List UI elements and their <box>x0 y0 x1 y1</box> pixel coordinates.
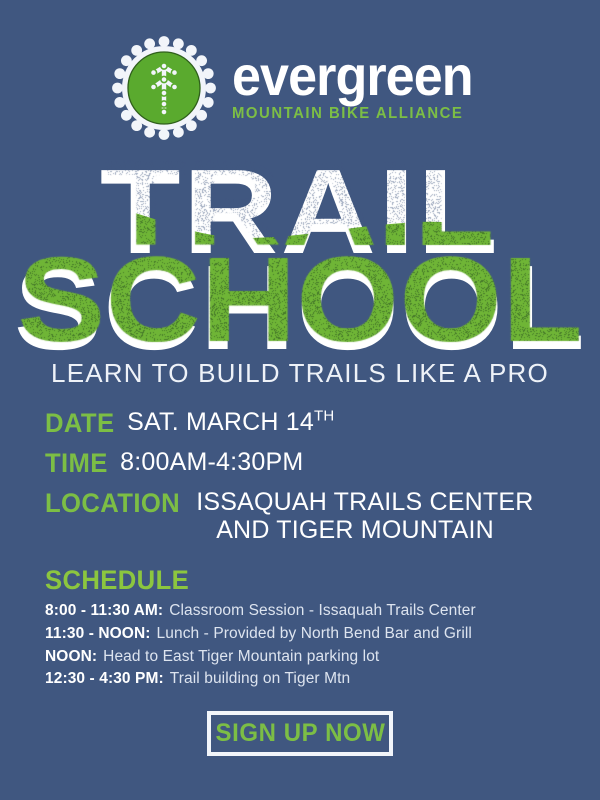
info-value-location: ISSAQUAH TRAILS CENTERAND TIGER MOUNTAIN <box>196 488 533 544</box>
schedule-time: NOON: <box>45 648 97 665</box>
headline-line-school: SCHOOL <box>0 248 600 368</box>
info-key-date: DATE <box>45 408 123 438</box>
sign-up-now-label: SIGN UP NOW <box>215 719 385 748</box>
logo-wordmark: evergreen MOUNTAIN BIKE ALLIANCE <box>232 49 491 127</box>
schedule-description: Lunch - Provided by North Bend Bar and G… <box>151 625 472 642</box>
info-line-date: DATE SAT. MARCH 14TH <box>45 408 565 438</box>
info-key-location: LOCATION <box>45 488 189 518</box>
schedule-time: 11:30 - NOON: <box>45 625 151 642</box>
headline: TRAIL SCHOOL <box>0 152 600 356</box>
subtitle: LEARN TO BUILD TRAILS LIKE A PRO <box>0 358 600 389</box>
sign-up-now-button[interactable]: SIGN UP NOW <box>207 711 393 756</box>
logo-block: evergreen MOUNTAIN BIKE ALLIANCE <box>0 32 600 144</box>
date-superscript: TH <box>314 408 334 425</box>
schedule-description: Head to East Tiger Mountain parking lot <box>97 648 379 665</box>
brand-name: evergreen <box>232 49 473 102</box>
schedule-row: 11:30 - NOON:Lunch - Provided by North B… <box>45 623 565 646</box>
trail-school-poster: evergreen MOUNTAIN BIKE ALLIANCE TRAIL S… <box>0 0 600 800</box>
info-line-time: TIME 8:00AM-4:30PM <box>45 448 565 478</box>
info-value-location-line2: AND TIGER MOUNTAIN <box>196 516 533 544</box>
info-line-location: LOCATION ISSAQUAH TRAILS CENTERAND TIGER… <box>45 488 565 544</box>
schedule-description: Classroom Session - Issaquah Trails Cent… <box>163 602 476 619</box>
schedule-section: SCHEDULE 8:00 - 11:30 AM:Classroom Sessi… <box>45 565 565 691</box>
event-info: DATE SAT. MARCH 14TH TIME 8:00AM-4:30PM … <box>45 408 565 554</box>
info-value-time: 8:00AM-4:30PM <box>120 448 303 476</box>
schedule-time: 8:00 - 11:30 AM: <box>45 602 163 619</box>
info-value-date: SAT. MARCH 14TH <box>127 408 334 436</box>
evergreen-sprocket-chain-tree-logo <box>110 34 218 142</box>
schedule-row: 8:00 - 11:30 AM:Classroom Session - Issa… <box>45 600 565 623</box>
info-key-time: TIME <box>45 448 116 478</box>
schedule-row: NOON:Head to East Tiger Mountain parking… <box>45 646 565 669</box>
schedule-time: 12:30 - 4:30 PM: <box>45 670 164 687</box>
schedule-description: Trail building on Tiger Mtn <box>164 670 350 687</box>
schedule-heading: SCHEDULE <box>45 565 539 596</box>
brand-tagline: MOUNTAIN BIKE ALLIANCE <box>232 105 480 123</box>
schedule-row: 12:30 - 4:30 PM:Trail building on Tiger … <box>45 668 565 691</box>
